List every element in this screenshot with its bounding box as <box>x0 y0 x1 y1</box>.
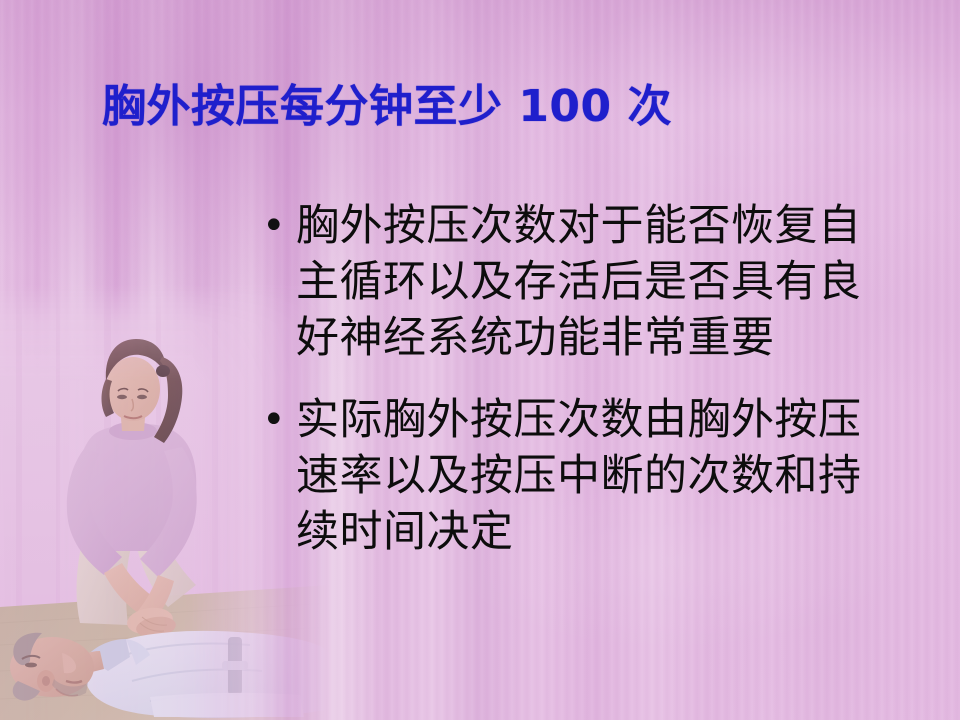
slide-title: 胸外按压每分钟至少 100 次 <box>102 82 862 133</box>
bullet-point-icon: • <box>258 392 296 448</box>
bullet-text: 胸外按压次数对于能否恢复自主循环以及存活后是否具有良好神经系统功能非常重要 <box>296 198 896 366</box>
list-item: • 实际胸外按压次数由胸外按压速率以及按压中断的次数和持续时间决定 <box>258 392 948 560</box>
slide-body-list: • 胸外按压次数对于能否恢复自主循环以及存活后是否具有良好神经系统功能非常重要 … <box>258 198 948 560</box>
list-item: • 胸外按压次数对于能否恢复自主循环以及存活后是否具有良好神经系统功能非常重要 <box>258 198 948 366</box>
presentation-slide: 胸外按压每分钟至少 100 次 • 胸外按压次数对于能否恢复自主循环以及存活后是… <box>0 0 960 720</box>
bullet-text: 实际胸外按压次数由胸外按压速率以及按压中断的次数和持续时间决定 <box>296 392 896 560</box>
bullet-point-icon: • <box>258 198 296 254</box>
